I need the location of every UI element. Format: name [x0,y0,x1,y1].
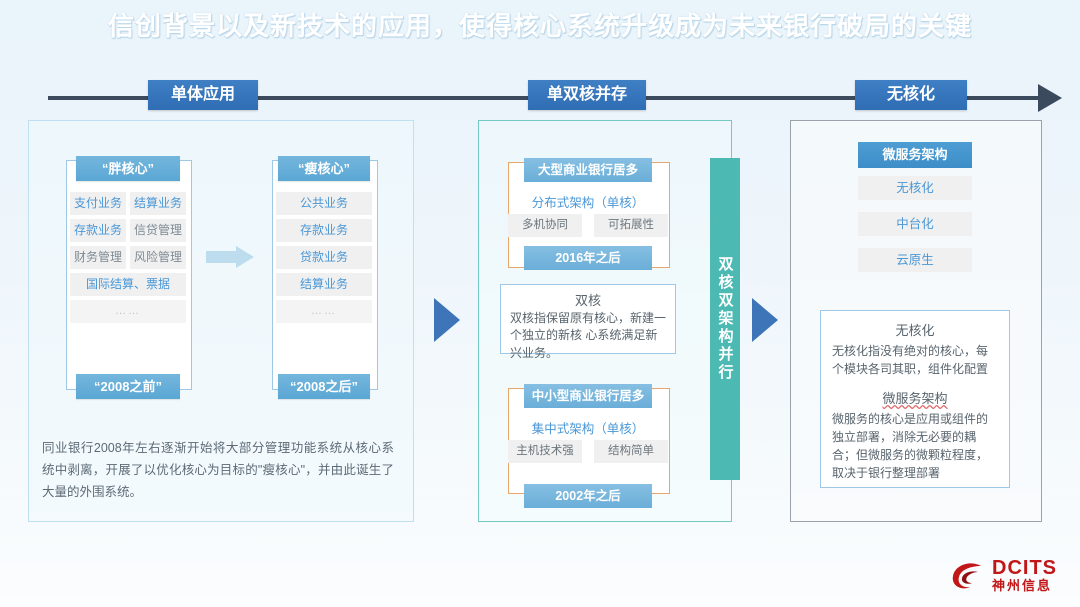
list-item: 支付业务 [70,192,126,215]
group-small-bank-caption: 中小型商业银行居多 [524,384,652,408]
dual-core-vertical-bar: 双核双架构并行 [710,158,740,480]
list-item: 结算业务 [276,273,372,296]
coreless-items: 无核化 中台化 云原生 [858,176,972,284]
timeline-arrow-icon [1038,84,1062,112]
timeline: 单体应用 单双核并存 无核化 [0,78,1080,118]
group-large-bank-tags: 多机协同 可拓展性 [508,214,668,237]
timeline-stage-1[interactable]: 单体应用 [148,80,258,110]
timeline-stage-2[interactable]: 单双核并存 [528,80,646,110]
list-item: 贷款业务 [276,246,372,269]
coreless-definition-title-2: 微服务架构 [832,388,998,407]
dual-core-definition-title: 双核 [510,290,666,309]
dual-core-definition-body: 双核指保留原有核心，新建一个独立的新核 心系统满足新兴业务。 [510,310,666,362]
coreless-definition-title-1: 无核化 [832,320,998,339]
list-item: 信贷管理 [130,219,186,242]
timeline-stage-3[interactable]: 无核化 [855,80,967,110]
dual-core-definition: 双核 双核指保留原有核心，新建一个独立的新核 心系统满足新兴业务。 [500,284,676,354]
list-item: 国际结算、票据 [70,273,186,296]
tag-item: 结构简单 [594,440,668,463]
core-fat-items: 支付业务 结算业务 存款业务 信贷管理 财务管理 风险管理 国际结算、票据 …… [70,192,186,323]
group-small-bank-year: 2002年之后 [524,484,652,508]
core-thin-top-label: “瘦核心” [278,156,370,181]
logo-brand: DCITS [992,558,1057,578]
group-large-bank-caption: 大型商业银行居多 [524,158,652,182]
logo-subtitle: 神州信息 [992,578,1057,594]
list-item-ellipsis: …… [70,300,186,323]
microservice-caption: 微服务架构 [858,142,972,168]
list-item: 中台化 [858,212,972,236]
list-item: 结算业务 [130,192,186,215]
panel-arrow-2-icon [752,298,778,342]
core-fat-bottom-label: “2008之前” [76,374,180,399]
list-item: 存款业务 [70,219,126,242]
tag-item: 主机技术强 [508,440,582,463]
transition-arrow-icon [206,246,256,268]
tag-item: 多机协同 [508,214,582,237]
dcits-mark-icon [948,556,988,596]
list-item: 无核化 [858,176,972,200]
list-item-ellipsis: …… [276,300,372,323]
panel-arrow-1-icon [434,298,460,342]
group-large-bank-year: 2016年之后 [524,246,652,270]
coreless-definition-body-1: 无核化指没有绝对的核心，每个模块各司其职，组件化配置 [832,342,998,378]
core-thin-bottom-label: “2008之后” [278,374,370,399]
tag-item: 可拓展性 [594,214,668,237]
list-item: 财务管理 [70,246,126,269]
company-logo: DCITS 神州信息 [948,553,1068,599]
group-large-bank-arch: 分布式架构（单核） [508,192,668,211]
core-fat-top-label: “胖核心” [76,156,180,181]
list-item: 云原生 [858,248,972,272]
list-item: 风险管理 [130,246,186,269]
coreless-definition-body-2: 微服务的核心是应用或组件的独立部署，消除无必要的耦合；但微服务的微颗粒程度，取决… [832,410,998,482]
panel-monolithic-note: 同业银行2008年左右逐渐开始将大部分管理功能系统从核心系统中剥离，开展了以优化… [42,438,394,504]
core-thin-items: 公共业务 存款业务 贷款业务 结算业务 …… [276,192,372,323]
page-title: 信创背景以及新技术的应用，使得核心系统升级成为未来银行破局的关键 [0,6,1080,43]
list-item: 公共业务 [276,192,372,215]
list-item: 存款业务 [276,219,372,242]
group-small-bank-arch: 集中式架构（单核） [508,418,668,437]
coreless-definition: 无核化 无核化指没有绝对的核心，每个模块各司其职，组件化配置 微服务架构 微服务… [820,310,1010,488]
group-small-bank-tags: 主机技术强 结构简单 [508,440,668,463]
